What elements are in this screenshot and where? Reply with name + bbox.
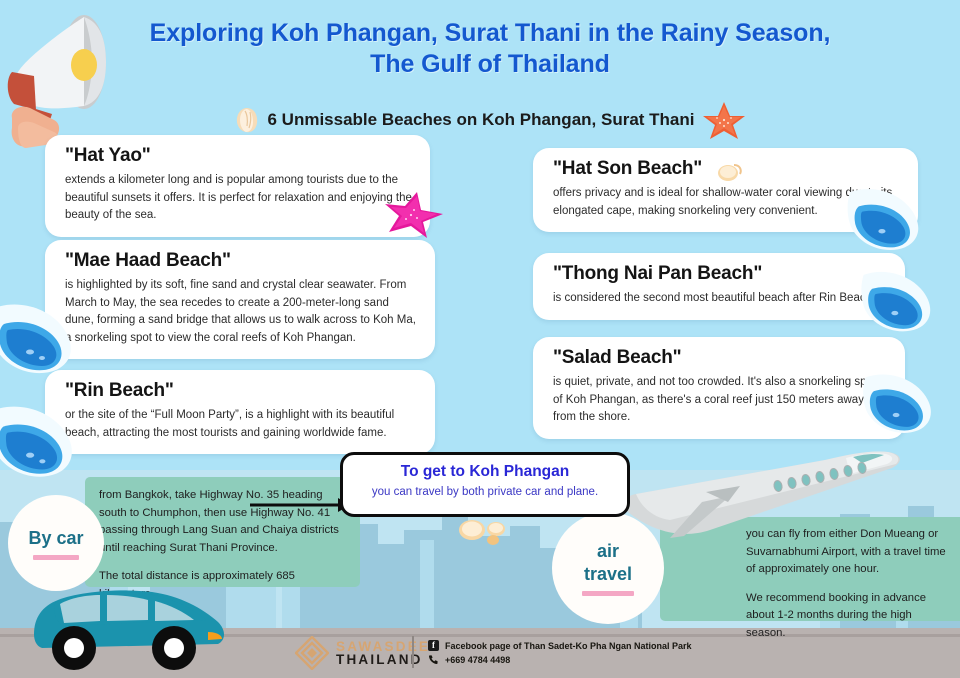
air-travel-panel: you can fly from either Don Mueang or Su…	[660, 517, 960, 621]
subtitle-row: 6 Unmissable Beaches on Koh Phangan, Sur…	[190, 100, 790, 140]
by-car-paragraph-1: from Bangkok, take Highway No. 35 headin…	[99, 487, 348, 557]
beach-card-title: "Hat Son Beach"	[553, 158, 702, 180]
by-car-panel: from Bangkok, take Highway No. 35 headin…	[85, 477, 360, 587]
beach-card-description: is quiet, private, and not too crowded. …	[553, 374, 887, 427]
beach-card-description: is highlighted by its soft, fine sand an…	[65, 277, 417, 347]
shell-icon	[714, 160, 744, 184]
title-line-1: Exploring Koh Phangan, Surat Thani in th…	[80, 18, 900, 49]
beach-card-description: is considered the second most beautiful …	[553, 290, 887, 308]
by-car-paragraph-2: The total distance is approximately 685 …	[99, 568, 348, 603]
beach-card-description: extends a kilometer long and is popular …	[65, 172, 412, 225]
beach-card-title: "Salad Beach"	[553, 347, 887, 369]
air-travel-label-line-2: travel	[584, 563, 632, 586]
beach-card-title: "Thong Nai Pan Beach"	[553, 263, 887, 285]
beach-card-description: offers privacy and is ideal for shallow-…	[553, 185, 900, 220]
by-car-label: By car	[28, 527, 83, 550]
beach-card-title: "Mae Haad Beach"	[65, 250, 417, 272]
air-travel-underline	[582, 591, 634, 596]
subtitle-text: 6 Unmissable Beaches on Koh Phangan, Sur…	[268, 110, 695, 130]
title-line-2: The Gulf of Thailand	[80, 49, 900, 80]
air-travel-paragraph-1: you can fly from either Don Mueang or Su…	[668, 526, 950, 579]
footer-bar	[0, 628, 960, 678]
beach-card-description: or the site of the “Full Moon Party”, is…	[65, 407, 417, 442]
beach-card-hat-son-beach[interactable]: "Hat Son Beach" offers privacy and is id…	[533, 148, 918, 232]
beach-card-title: "Rin Beach"	[65, 380, 417, 402]
starfish-icon	[700, 100, 746, 140]
travel-box-title: To get to Koh Phangan	[343, 463, 627, 481]
travel-info-box: To get to Koh Phangan you can travel by …	[340, 452, 630, 517]
shell-icon	[234, 106, 260, 134]
air-travel-label-line-1: air	[597, 540, 619, 563]
beach-card-thong-nai-pan-beach[interactable]: "Thong Nai Pan Beach" is considered the …	[533, 253, 905, 320]
air-travel-label-bubble: air travel	[552, 512, 664, 624]
beach-card-rin-beach[interactable]: "Rin Beach" or the site of the “Full Moo…	[45, 370, 435, 454]
beach-card-hat-yao[interactable]: "Hat Yao" extends a kilometer long and i…	[45, 135, 430, 237]
by-car-label-bubble: By car	[8, 495, 104, 591]
beach-card-title: "Hat Yao"	[65, 145, 412, 167]
beach-card-salad-beach[interactable]: "Salad Beach" is quiet, private, and not…	[533, 337, 905, 439]
infographic-root: Exploring Koh Phangan, Surat Thani in th…	[0, 0, 960, 678]
by-car-underline	[33, 555, 79, 560]
beach-card-mae-haad-beach[interactable]: "Mae Haad Beach" is highlighted by its s…	[45, 240, 435, 359]
page-title: Exploring Koh Phangan, Surat Thani in th…	[80, 18, 900, 80]
travel-box-subtitle: you can travel by both private car and p…	[343, 486, 627, 498]
